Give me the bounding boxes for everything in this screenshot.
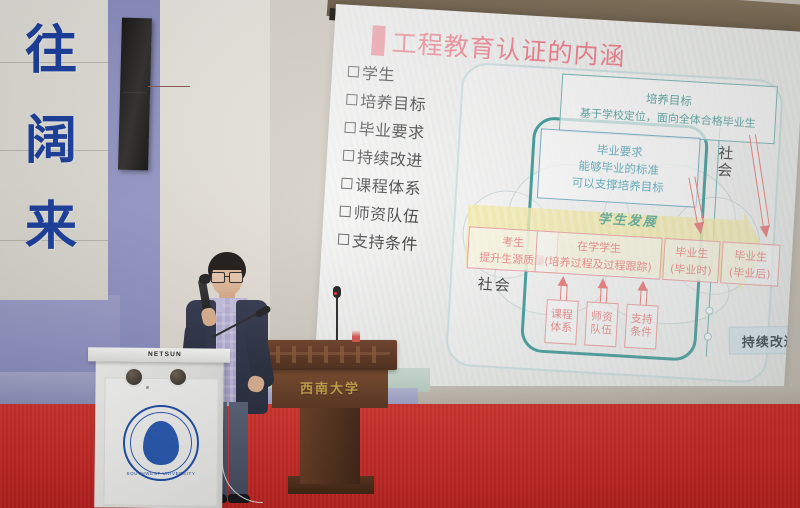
university-emblem-icon: SOUTHWEST UNIVERSITY xyxy=(123,405,199,481)
presenter-fringe xyxy=(209,258,245,270)
podium-speaker-grille-right xyxy=(168,367,188,387)
microphone-head xyxy=(198,273,212,285)
wall-speaker-icon xyxy=(118,18,152,171)
calligraphy-wall: 往 阔 来 xyxy=(0,0,108,300)
speaker-cable xyxy=(148,86,190,121)
podium-microphone-icon xyxy=(213,300,269,356)
glasses-icon xyxy=(211,272,243,281)
calligraphy-char-3: 来 xyxy=(14,190,88,264)
lectern-microphone-icon xyxy=(330,286,344,340)
lectern-column xyxy=(300,404,360,484)
podium-speaker-grille-left xyxy=(124,367,144,387)
floor-cable xyxy=(222,372,263,503)
calligraphy-char-2: 阔 xyxy=(14,104,88,178)
lectern-university-name: 西南大学 xyxy=(286,378,374,396)
university-emblem-text: SOUTHWEST UNIVERSITY xyxy=(125,471,197,476)
water-bottle xyxy=(352,330,360,342)
conference-presentation-photo: 往 阔 来 工程教育认证的内涵 学生 培养目标 xyxy=(0,0,800,508)
podium-brand-label: NETSUN xyxy=(148,351,182,358)
lectern-fret-line xyxy=(270,352,390,355)
calligraphy-char-1: 往 xyxy=(14,14,88,88)
podium-led-indicator xyxy=(146,386,149,389)
microphone-indicator-light xyxy=(334,292,337,295)
